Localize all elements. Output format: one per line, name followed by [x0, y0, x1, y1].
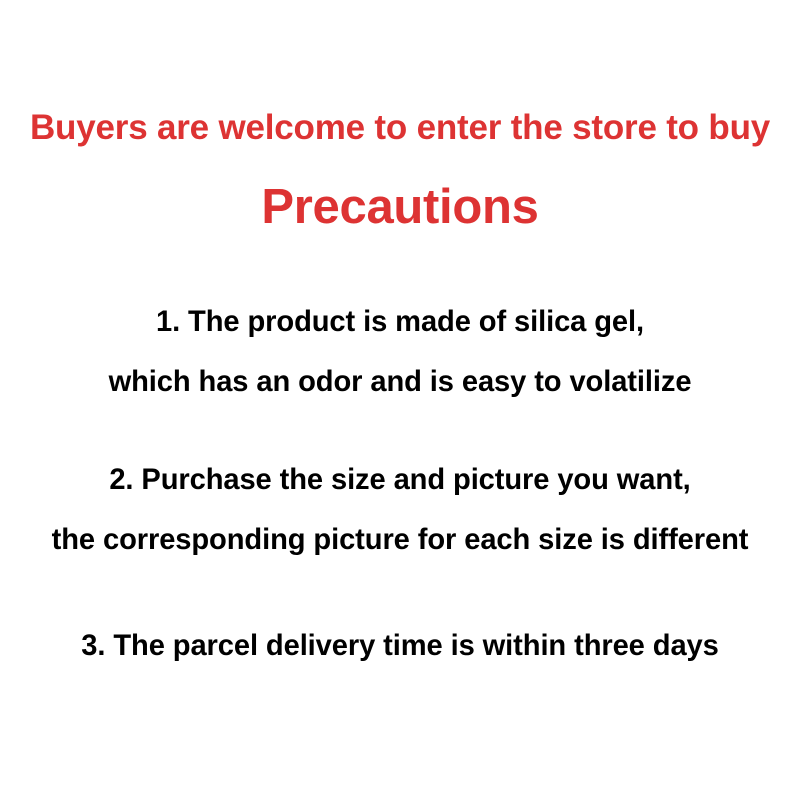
- note-line: 3. The parcel delivery time is within th…: [12, 616, 788, 676]
- list-item: 3. The parcel delivery time is within th…: [0, 616, 800, 676]
- note-line: 2. Purchase the size and picture you wan…: [12, 450, 788, 510]
- page-title: Precautions: [0, 178, 800, 236]
- note-line: the corresponding picture for each size …: [12, 510, 788, 570]
- precautions-list: 1. The product is made of silica gel, wh…: [0, 292, 800, 676]
- note-line: 1. The product is made of silica gel,: [12, 292, 788, 352]
- note-line: which has an odor and is easy to volatil…: [12, 352, 788, 412]
- list-item: 2. Purchase the size and picture you wan…: [0, 450, 800, 570]
- precautions-notice-page: Buyers are welcome to enter the store to…: [0, 0, 800, 800]
- store-welcome-banner: Buyers are welcome to enter the store to…: [0, 106, 800, 150]
- list-item: 1. The product is made of silica gel, wh…: [0, 292, 800, 412]
